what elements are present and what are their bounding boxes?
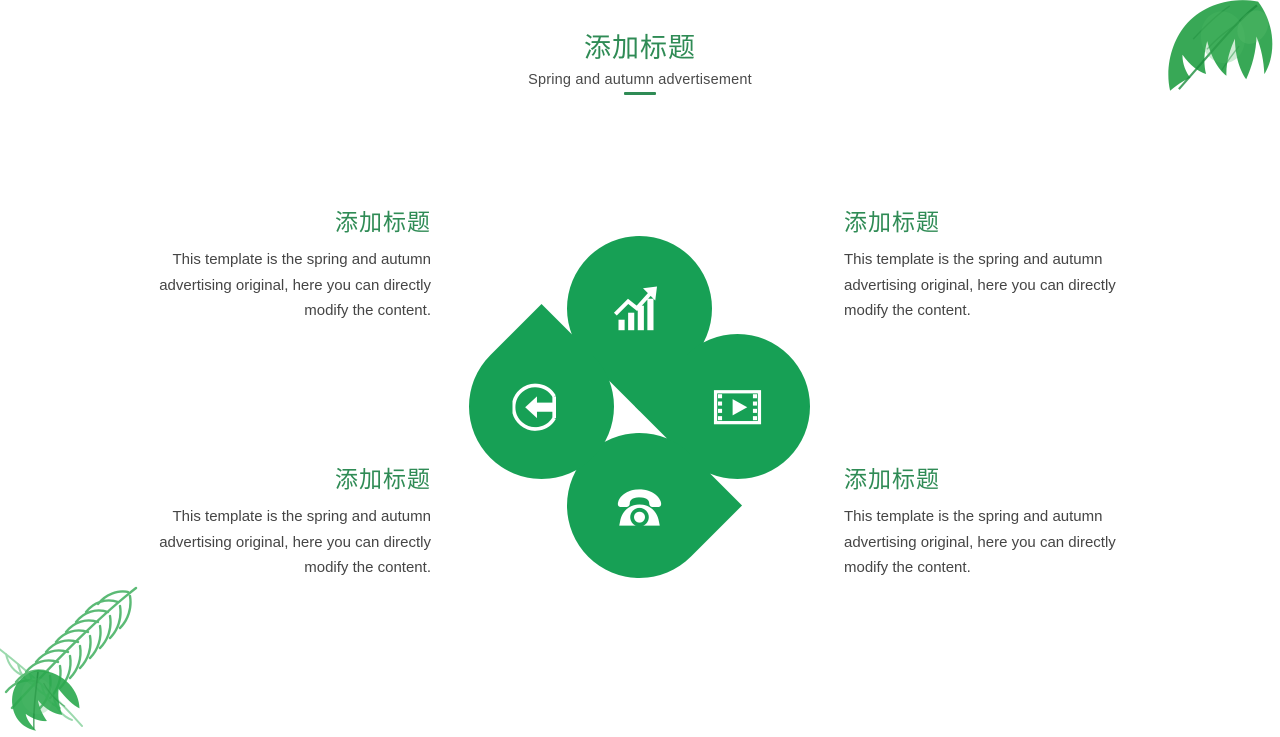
page-title: 添加标题 [0, 32, 1280, 64]
arrow-left-circle-icon [511, 376, 573, 438]
info-block-top-left: 添加标题 This template is the spring and aut… [121, 208, 431, 324]
info-block-title: 添加标题 [121, 208, 431, 237]
info-block-title: 添加标题 [121, 465, 431, 494]
info-block-body: This template is the spring and autumn a… [121, 247, 431, 324]
palm-frond-leaf-icon [0, 582, 150, 732]
info-block-title: 添加标题 [844, 208, 1154, 237]
film-play-icon [707, 376, 769, 438]
title-underline-rule [624, 92, 656, 95]
info-block-body: This template is the spring and autumn a… [121, 504, 431, 581]
info-block-bottom-right: 添加标题 This template is the spring and aut… [844, 465, 1154, 581]
info-block-body: This template is the spring and autumn a… [844, 247, 1154, 324]
growth-chart-icon [609, 278, 671, 340]
info-block-body: This template is the spring and autumn a… [844, 504, 1154, 581]
info-block-title: 添加标题 [844, 465, 1154, 494]
pinwheel-diagram [470, 237, 810, 577]
page-subtitle: Spring and autumn advertisement [0, 72, 1280, 88]
slide-header: 添加标题 Spring and autumn advertisement [0, 32, 1280, 95]
info-block-top-right: 添加标题 This template is the spring and aut… [844, 208, 1154, 324]
telephone-icon [609, 475, 671, 537]
info-block-bottom-left: 添加标题 This template is the spring and aut… [121, 465, 431, 581]
